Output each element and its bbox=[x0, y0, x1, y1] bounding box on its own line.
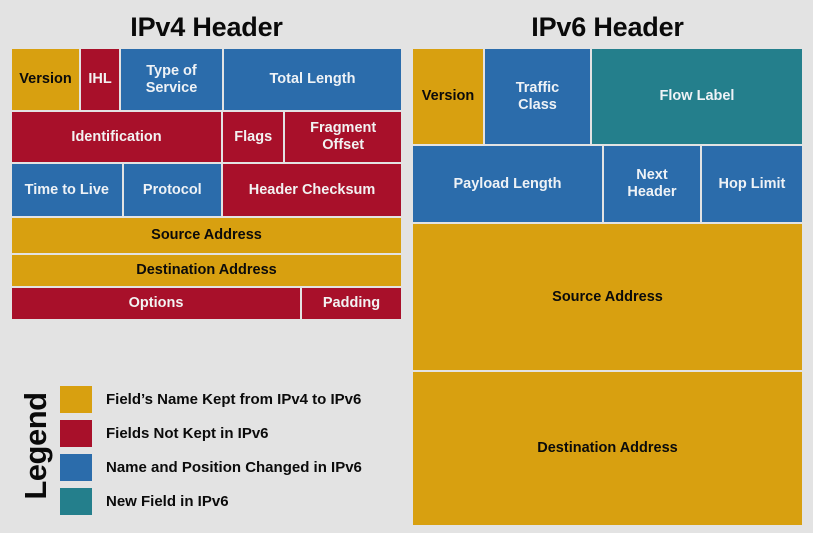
legend-swatch-blue bbox=[60, 454, 92, 481]
ipv6-header-table: VersionTraffic ClassFlow LabelPayload Le… bbox=[413, 49, 802, 525]
ipv6-row: Source Address bbox=[413, 224, 802, 370]
ipv6-field-destination-address: Destination Address bbox=[413, 372, 802, 525]
ipv4-field-padding: Padding bbox=[302, 288, 401, 319]
legend-item: New Field in IPv6 bbox=[60, 488, 229, 515]
ipv6-field-flow-label: Flow Label bbox=[592, 49, 802, 144]
ipv4-row: IdentificationFlagsFragment Offset bbox=[12, 112, 401, 162]
legend-swatch-red bbox=[60, 420, 92, 447]
ipv4-field-total-length: Total Length bbox=[224, 49, 401, 110]
legend-item-label: Name and Position Changed in IPv6 bbox=[106, 459, 362, 476]
legend-item: Name and Position Changed in IPv6 bbox=[60, 454, 362, 481]
ipv4-field-destination-address: Destination Address bbox=[12, 255, 401, 286]
ipv6-row: Payload LengthNext HeaderHop Limit bbox=[413, 146, 802, 222]
ipv4-row: Time to LiveProtocolHeader Checksum bbox=[12, 164, 401, 216]
legend-item: Fields Not Kept in IPv6 bbox=[60, 420, 269, 447]
diagram-root: IPv4 Header VersionIHLType of ServiceTot… bbox=[0, 0, 813, 533]
ipv6-field-payload-length: Payload Length bbox=[413, 146, 602, 222]
ipv4-field-version: Version bbox=[12, 49, 79, 110]
ipv4-header-table: VersionIHLType of ServiceTotal LengthIde… bbox=[12, 49, 401, 319]
legend-item-label: Field’s Name Kept from IPv4 to IPv6 bbox=[106, 391, 361, 408]
ipv6-field-next-header: Next Header bbox=[604, 146, 700, 222]
ipv4-row: Source Address bbox=[12, 218, 401, 253]
ipv4-field-time-to-live: Time to Live bbox=[12, 164, 122, 216]
ipv4-header-title: IPv4 Header bbox=[12, 10, 401, 44]
ipv4-field-protocol: Protocol bbox=[124, 164, 222, 216]
ipv4-field-ihl: IHL bbox=[81, 49, 119, 110]
ipv4-field-identification: Identification bbox=[12, 112, 221, 162]
ipv6-field-version: Version bbox=[413, 49, 483, 144]
ipv6-field-source-address: Source Address bbox=[413, 224, 802, 370]
ipv6-field-hop-limit: Hop Limit bbox=[702, 146, 802, 222]
legend-item-label: Fields Not Kept in IPv6 bbox=[106, 425, 269, 442]
legend-item-label: New Field in IPv6 bbox=[106, 493, 229, 510]
legend-swatch-gold bbox=[60, 386, 92, 413]
legend-item: Field’s Name Kept from IPv4 to IPv6 bbox=[60, 386, 361, 413]
ipv4-field-options: Options bbox=[12, 288, 300, 319]
ipv6-header-title: IPv6 Header bbox=[413, 10, 802, 44]
ipv4-field-header-checksum: Header Checksum bbox=[223, 164, 401, 216]
ipv6-row: VersionTraffic ClassFlow Label bbox=[413, 49, 802, 144]
ipv4-row: Destination Address bbox=[12, 255, 401, 286]
ipv4-field-flags: Flags bbox=[223, 112, 283, 162]
legend-swatch-teal bbox=[60, 488, 92, 515]
ipv4-row: VersionIHLType of ServiceTotal Length bbox=[12, 49, 401, 110]
ipv4-field-source-address: Source Address bbox=[12, 218, 401, 253]
ipv6-row: Destination Address bbox=[413, 372, 802, 525]
ipv6-field-traffic-class: Traffic Class bbox=[485, 49, 590, 144]
legend-title: Legend bbox=[18, 386, 54, 506]
ipv4-row: OptionsPadding bbox=[12, 288, 401, 319]
ipv4-field-type-of-service: Type of Service bbox=[121, 49, 222, 110]
legend: Legend Field’s Name Kept from IPv4 to IP… bbox=[12, 376, 401, 516]
ipv4-field-fragment-offset: Fragment Offset bbox=[285, 112, 401, 162]
